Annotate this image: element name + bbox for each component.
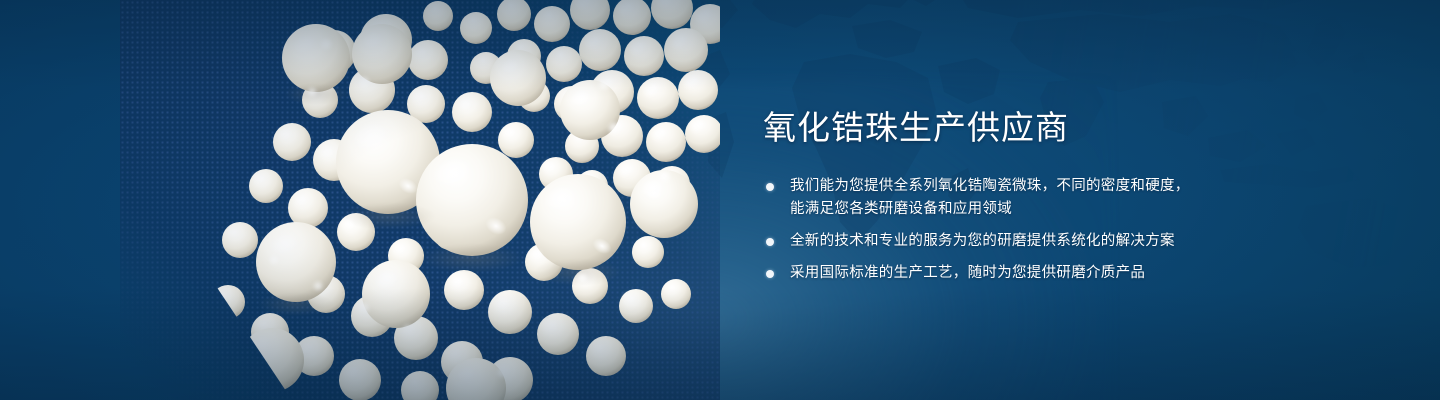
hero-banner: 氧化锆珠生产供应商 我们能为您提供全系列氧化锆陶瓷微珠，不同的密度和硬度， 能满… [0,0,1440,400]
banner-text-block: 氧化锆珠生产供应商 我们能为您提供全系列氧化锆陶瓷微珠，不同的密度和硬度， 能满… [763,108,1383,285]
feature-bullet-list: 我们能为您提供全系列氧化锆陶瓷微珠，不同的密度和硬度， 能满足您各类研磨设备和应… [763,175,1383,285]
list-item: 全新的技术和专业的服务为您的研磨提供系统化的解决方案 [763,230,1383,253]
bullet-text-line1: 全新的技术和专业的服务为您的研磨提供系统化的解决方案 [790,230,1383,253]
page-title: 氧化锆珠生产供应商 [763,108,1383,148]
bullet-dot-icon [766,270,774,278]
list-item: 我们能为您提供全系列氧化锆陶瓷微珠，不同的密度和硬度， 能满足您各类研磨设备和应… [763,175,1383,221]
bullet-dot-icon [766,183,774,191]
list-item: 采用国际标准的生产工艺，随时为您提供研磨介质产品 [763,262,1383,285]
bullet-dot-icon [766,238,774,246]
bullet-text-line1: 采用国际标准的生产工艺，随时为您提供研磨介质产品 [790,262,1383,285]
bullet-text-line2: 能满足您各类研磨设备和应用领域 [790,198,1383,221]
bullet-text-line1: 我们能为您提供全系列氧化锆陶瓷微珠，不同的密度和硬度， [790,175,1383,198]
